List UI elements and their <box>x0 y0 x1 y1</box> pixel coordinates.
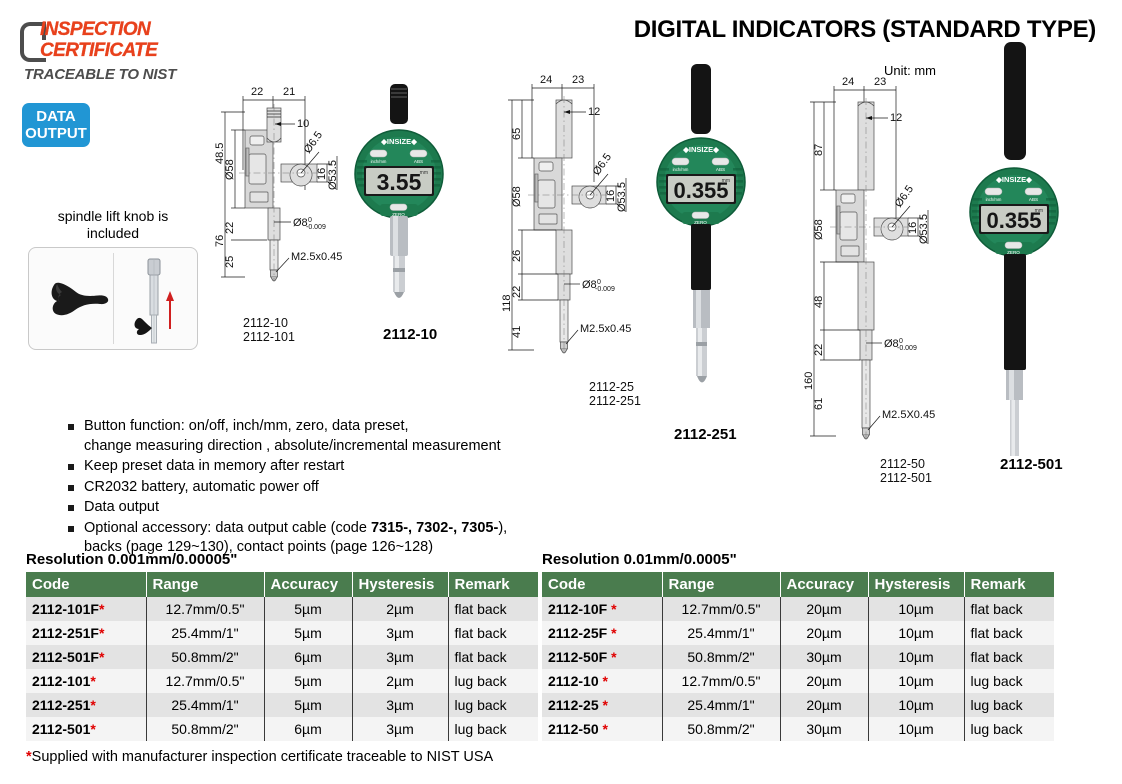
resolution-0001-table: Code Range Accuracy Hysteresis Remark 21… <box>26 572 538 741</box>
resolution-001-table: Code Range Accuracy Hysteresis Remark 21… <box>542 572 1054 741</box>
cell-remark: flat back <box>448 645 538 669</box>
svg-text:◆INSIZE◆: ◆INSIZE◆ <box>682 145 720 154</box>
cell-remark: flat back <box>964 621 1054 645</box>
technical-drawing-2112-50: 24 23 <box>790 60 975 460</box>
svg-text:76: 76 <box>214 235 226 247</box>
knob-caption: spindle lift knob is included <box>28 208 198 242</box>
drawing-label-2112-25: 2112-25 2112-251 <box>589 380 641 408</box>
lcd-display-value: 3.55 <box>377 169 422 195</box>
cell-code: 2112-251* <box>26 693 146 717</box>
table-row[interactable]: 2112-101F* 12.7mm/0.5" 5µm 2µm flat back <box>26 597 538 621</box>
table-row[interactable]: 2112-251* 25.4mm/1" 5µm 3µm lug back <box>26 693 538 717</box>
cell-remark: flat back <box>448 621 538 645</box>
table-row[interactable]: 2112-501* 50.8mm/2" 6µm 3µm lug back <box>26 717 538 741</box>
svg-text:160: 160 <box>803 372 815 390</box>
cell-code: 2112-501F* <box>26 645 146 669</box>
svg-text:inch/mm: inch/mm <box>673 167 689 172</box>
svg-text:22: 22 <box>511 286 523 298</box>
feature-item: Button function: on/off, inch/mm, zero, … <box>68 417 548 456</box>
spindle-usage-icon <box>125 257 181 344</box>
catalog-page: DIGITAL INDICATORS (STANDARD TYPE) INSPE… <box>0 0 1122 784</box>
cell-accuracy: 20µm <box>780 693 868 717</box>
inspection-certificate-logo: INSPECTION CERTIFICATE TRACEABLE TO NIST <box>18 20 218 83</box>
spec-table-right: Resolution 0.01mm/0.0005" Code Range Acc… <box>542 551 1054 741</box>
svg-text:ABS: ABS <box>716 167 725 172</box>
svg-text:M2.5X0.45: M2.5X0.45 <box>882 409 935 421</box>
photo-caption-2112-501: 2112-501 <box>1000 456 1063 473</box>
cell-hysteresis: 10µm <box>868 693 964 717</box>
cell-remark: lug back <box>448 717 538 741</box>
cell-remark: flat back <box>964 597 1054 621</box>
cell-accuracy: 5µm <box>264 693 352 717</box>
certificate-line1: INSPECTION <box>40 20 157 39</box>
table-row[interactable]: 2112-10F * 12.7mm/0.5" 20µm 10µm flat ba… <box>542 597 1054 621</box>
svg-text:-0.009: -0.009 <box>595 286 615 293</box>
svg-text:41: 41 <box>511 326 523 338</box>
cell-remark: lug back <box>964 669 1054 693</box>
knob-caption-line2: included <box>28 225 198 242</box>
svg-text:65: 65 <box>511 128 523 140</box>
column-header-range: Range <box>662 572 780 597</box>
cell-hysteresis: 10µm <box>868 669 964 693</box>
column-header-hysteresis: Hysteresis <box>352 572 448 597</box>
cell-code: 2112-101F* <box>26 597 146 621</box>
cell-accuracy: 6µm <box>264 645 352 669</box>
svg-text:Ø53.5: Ø53.5 <box>918 214 930 244</box>
feature-list: Button function: on/off, inch/mm, zero, … <box>28 417 548 559</box>
table-row[interactable]: 2112-251F* 25.4mm/1" 5µm 3µm flat back <box>26 621 538 645</box>
product-photo-2112-501: ◆INSIZE◆ inch/mm ABS 0.355 mm ZERO <box>966 40 1062 460</box>
svg-text:mm: mm <box>1035 208 1043 214</box>
drawing-label-line1: 2112-50 <box>880 457 932 471</box>
svg-text:inch/mm: inch/mm <box>371 159 387 164</box>
feature-accessory-codes: 7315-, 7302-, 7305- <box>371 520 498 536</box>
table-row[interactable]: 2112-50F * 50.8mm/2" 30µm 10µm flat back <box>542 645 1054 669</box>
table-title: Resolution 0.01mm/0.0005" <box>542 551 1054 568</box>
brand-logo-text: ◆INSIZE◆ <box>380 137 418 146</box>
svg-text:ABS: ABS <box>414 159 423 164</box>
svg-text:Ø58: Ø58 <box>511 186 523 207</box>
column-header-range: Range <box>146 572 264 597</box>
spec-table-left: Resolution 0.001mm/0.00005" Code Range A… <box>26 551 538 741</box>
cell-accuracy: 20µm <box>780 597 868 621</box>
svg-text:0: 0 <box>308 217 312 224</box>
drawing-label-line2: 2112-251 <box>589 394 641 408</box>
table-row[interactable]: 2112-25 * 25.4mm/1" 20µm 10µm lug back <box>542 693 1054 717</box>
cell-hysteresis: 3µm <box>352 621 448 645</box>
drawing-label-line1: 2112-10 <box>243 316 295 330</box>
cell-remark: lug back <box>448 693 538 717</box>
cell-accuracy: 6µm <box>264 717 352 741</box>
feature-text-cont: change measuring direction , absolute/in… <box>84 438 501 454</box>
data-output-line2: OUTPUT <box>25 125 87 142</box>
svg-text:23: 23 <box>572 74 584 86</box>
svg-text:-0.009: -0.009 <box>306 224 326 231</box>
table-header-row: Code Range Accuracy Hysteresis Remark <box>542 572 1054 597</box>
cell-range: 12.7mm/0.5" <box>662 597 780 621</box>
cell-accuracy: 5µm <box>264 669 352 693</box>
cell-range: 50.8mm/2" <box>662 645 780 669</box>
table-row[interactable]: 2112-50 * 50.8mm/2" 30µm 10µm lug back <box>542 717 1054 741</box>
lcd-display-value: 0.355 <box>673 178 728 203</box>
drawing-label-line1: 2112-25 <box>589 380 641 394</box>
cell-hysteresis: 3µm <box>352 645 448 669</box>
feature-text: Optional accessory: data output cable (c… <box>84 520 371 536</box>
cell-accuracy: 20µm <box>780 669 868 693</box>
svg-text:mm: mm <box>722 178 730 184</box>
spindle-lift-knob-inset: spindle lift knob is included <box>28 208 198 350</box>
table-header-row: Code Range Accuracy Hysteresis Remark <box>26 572 538 597</box>
cell-accuracy: 30µm <box>780 717 868 741</box>
cell-range: 12.7mm/0.5" <box>146 597 264 621</box>
table-row[interactable]: 2112-101* 12.7mm/0.5" 5µm 2µm lug back <box>26 669 538 693</box>
cell-hysteresis: 10µm <box>868 645 964 669</box>
table-row[interactable]: 2112-25F * 25.4mm/1" 20µm 10µm flat back <box>542 621 1054 645</box>
svg-text:Ø58: Ø58 <box>813 219 825 240</box>
drawing-label-line2: 2112-501 <box>880 471 932 485</box>
svg-text:48: 48 <box>813 296 825 308</box>
knob-photo-cell <box>34 253 113 344</box>
column-header-remark: Remark <box>964 572 1054 597</box>
cell-range: 50.8mm/2" <box>146 717 264 741</box>
svg-text:ABS: ABS <box>1029 197 1038 202</box>
feature-text: Keep preset data in memory after restart <box>84 458 344 474</box>
feature-item: Keep preset data in memory after restart <box>68 457 548 477</box>
feature-item: CR2032 battery, automatic power off <box>68 478 548 498</box>
table-title: Resolution 0.001mm/0.00005" <box>26 551 538 568</box>
svg-text:22: 22 <box>251 86 263 98</box>
feature-text: CR2032 battery, automatic power off <box>84 479 319 495</box>
cell-range: 12.7mm/0.5" <box>662 669 780 693</box>
svg-text:12: 12 <box>890 112 902 124</box>
product-photo-2112-251: ◆INSIZE◆ inch/mm ABS 0.355 mm ZERO <box>654 62 748 407</box>
data-output-line1: DATA <box>36 108 75 125</box>
lcd-display-value: 0.355 <box>986 208 1041 233</box>
cell-remark: lug back <box>448 669 538 693</box>
cell-code: 2112-25F * <box>542 621 662 645</box>
technical-drawing-2112-25: 24 23 <box>490 62 670 377</box>
column-header-remark: Remark <box>448 572 538 597</box>
svg-text:0: 0 <box>597 279 601 286</box>
product-photo-2112-10: ◆INSIZE◆ inch/mm ABS 3.55 mm ZERO <box>352 82 446 322</box>
footnote: *Supplied with manufacturer inspection c… <box>26 748 493 766</box>
cell-code: 2112-101* <box>26 669 146 693</box>
svg-text:25: 25 <box>224 256 236 268</box>
cell-range: 50.8mm/2" <box>146 645 264 669</box>
feature-text: Data output <box>84 499 159 515</box>
cell-hysteresis: 10µm <box>868 597 964 621</box>
cell-range: 12.7mm/0.5" <box>146 669 264 693</box>
cell-hysteresis: 2µm <box>352 669 448 693</box>
cell-range: 25.4mm/1" <box>662 693 780 717</box>
table-row[interactable]: 2112-501F* 50.8mm/2" 6µm 3µm flat back <box>26 645 538 669</box>
svg-text:Ø53.5: Ø53.5 <box>616 182 628 212</box>
feature-text-tail: ), <box>498 520 507 536</box>
drawing-label-line2: 2112-101 <box>243 330 295 344</box>
svg-text:mm: mm <box>420 170 428 176</box>
svg-text:87: 87 <box>813 144 825 156</box>
certificate-subtitle: TRACEABLE TO NIST <box>24 66 218 83</box>
svg-text:◆INSIZE◆: ◆INSIZE◆ <box>995 175 1033 184</box>
cell-range: 25.4mm/1" <box>662 621 780 645</box>
column-header-code: Code <box>542 572 662 597</box>
cell-remark: flat back <box>964 645 1054 669</box>
svg-text:M2.5x0.45: M2.5x0.45 <box>580 323 631 335</box>
cell-hysteresis: 10µm <box>868 717 964 741</box>
drawing-label-2112-50: 2112-50 2112-501 <box>880 457 932 485</box>
table-row[interactable]: 2112-10 * 12.7mm/0.5" 20µm 10µm lug back <box>542 669 1054 693</box>
svg-text:inch/mm: inch/mm <box>986 197 1002 202</box>
svg-text:-0.009: -0.009 <box>897 345 917 352</box>
cell-remark: flat back <box>448 597 538 621</box>
column-header-code: Code <box>26 572 146 597</box>
column-header-accuracy: Accuracy <box>780 572 868 597</box>
knob-usage-cell <box>113 253 193 344</box>
photo-caption-2112-10: 2112-10 <box>383 326 437 343</box>
cell-code: 2112-50F * <box>542 645 662 669</box>
cell-code: 2112-501* <box>26 717 146 741</box>
column-header-hysteresis: Hysteresis <box>868 572 964 597</box>
svg-text:22: 22 <box>813 344 825 356</box>
svg-text:24: 24 <box>540 74 552 86</box>
feature-item: Data output <box>68 498 548 518</box>
cell-range: 25.4mm/1" <box>146 621 264 645</box>
svg-text:23: 23 <box>874 76 886 88</box>
svg-text:M2.5x0.45: M2.5x0.45 <box>291 251 342 263</box>
cell-hysteresis: 3µm <box>352 693 448 717</box>
cell-hysteresis: 10µm <box>868 621 964 645</box>
cell-remark: lug back <box>964 717 1054 741</box>
svg-text:Ø58: Ø58 <box>224 159 236 180</box>
svg-text:12: 12 <box>588 106 600 118</box>
photo-caption-2112-251: 2112-251 <box>674 426 737 443</box>
cell-accuracy: 20µm <box>780 621 868 645</box>
cell-code: 2112-251F* <box>26 621 146 645</box>
svg-text:Ø53.5: Ø53.5 <box>327 160 339 190</box>
svg-text:24: 24 <box>842 76 854 88</box>
certificate-line2: CERTIFICATE <box>40 41 157 60</box>
cell-range: 25.4mm/1" <box>146 693 264 717</box>
cell-accuracy: 30µm <box>780 645 868 669</box>
svg-text:22: 22 <box>224 222 236 234</box>
cell-code: 2112-25 * <box>542 693 662 717</box>
cell-range: 50.8mm/2" <box>662 717 780 741</box>
svg-text:26: 26 <box>511 250 523 262</box>
footnote-text: Supplied with manufacturer inspection ce… <box>32 749 494 765</box>
cell-accuracy: 5µm <box>264 597 352 621</box>
cell-code: 2112-10 * <box>542 669 662 693</box>
svg-text:61: 61 <box>813 398 825 410</box>
data-output-badge: DATA OUTPUT <box>22 103 90 147</box>
column-header-accuracy: Accuracy <box>264 572 352 597</box>
svg-text:0: 0 <box>899 338 903 345</box>
feature-text: Button function: on/off, inch/mm, zero, … <box>84 418 409 434</box>
cell-hysteresis: 2µm <box>352 597 448 621</box>
svg-text:10: 10 <box>297 118 309 130</box>
cell-hysteresis: 3µm <box>352 717 448 741</box>
knob-caption-line1: spindle lift knob is <box>28 208 198 225</box>
cell-code: 2112-50 * <box>542 717 662 741</box>
cell-accuracy: 5µm <box>264 621 352 645</box>
knob-image-frame <box>28 247 198 350</box>
drawing-label-2112-10: 2112-10 2112-101 <box>243 316 295 344</box>
cell-remark: lug back <box>964 693 1054 717</box>
cell-code: 2112-10F * <box>542 597 662 621</box>
spindle-lift-knob-icon <box>48 279 110 323</box>
svg-text:21: 21 <box>283 86 295 98</box>
